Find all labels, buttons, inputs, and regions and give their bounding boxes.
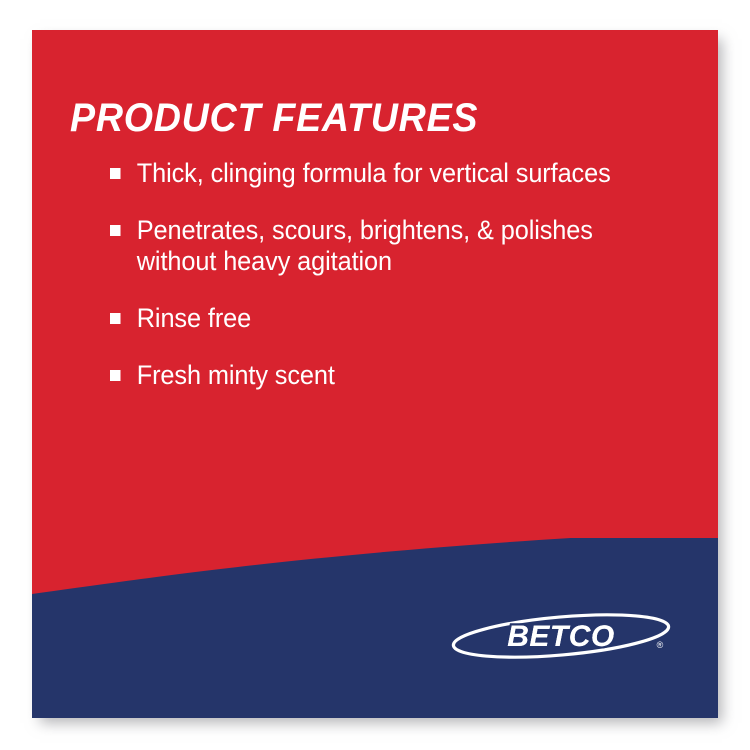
feature-text: Rinse free xyxy=(137,303,664,334)
list-item: Rinse free xyxy=(110,303,664,334)
list-item: Thick, clinging formula for vertical sur… xyxy=(110,158,664,189)
red-feature-card: PRODUCT FEATURES Thick, clinging formula… xyxy=(32,30,718,718)
square-bullet-icon xyxy=(110,225,121,236)
list-item: Penetrates, scours, brightens, & polishe… xyxy=(110,215,664,277)
square-bullet-icon xyxy=(110,313,121,324)
square-bullet-icon xyxy=(110,168,121,179)
product-feature-graphic: PRODUCT FEATURES Thick, clinging formula… xyxy=(0,0,750,750)
list-item: Fresh minty scent xyxy=(110,360,664,391)
feature-text: Thick, clinging formula for vertical sur… xyxy=(137,158,664,189)
product-features-list: Thick, clinging formula for vertical sur… xyxy=(110,158,690,391)
logo-wordmark: BETCO xyxy=(507,620,615,653)
feature-text: Fresh minty scent xyxy=(137,360,664,391)
feature-text: Penetrates, scours, brightens, & polishe… xyxy=(137,215,664,277)
square-bullet-icon xyxy=(110,370,121,381)
betco-logo: BETCO BETCO ® xyxy=(450,612,672,660)
registered-trademark-icon: ® xyxy=(657,640,664,650)
betco-logo-mark: BETCO BETCO ® xyxy=(450,612,672,660)
page-title: PRODUCT FEATURES xyxy=(70,98,478,138)
